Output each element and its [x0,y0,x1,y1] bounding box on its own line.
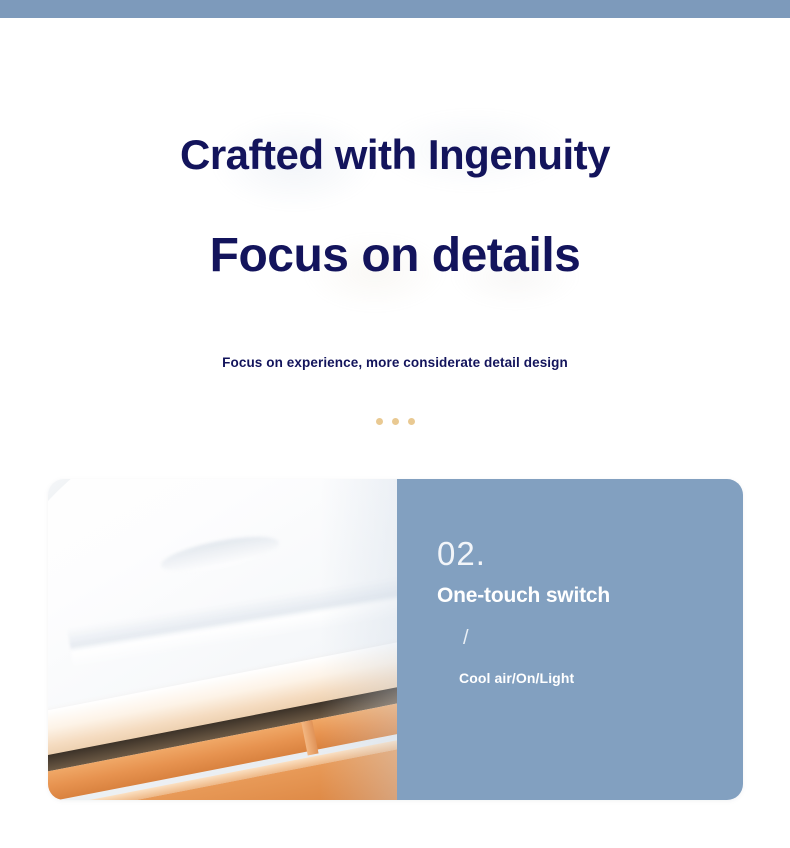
feature-card: 02. One-touch switch / Cool air/On/Light [48,479,743,800]
hero-watermark-image [195,93,595,323]
page-title: Crafted with Ingenuity [0,131,790,179]
dot-icon [392,418,399,425]
product-photo [48,479,397,800]
page-subtitle-heading: Focus on details [0,228,790,283]
dot-icon [376,418,383,425]
dot-icon [408,418,415,425]
hero-section: Crafted with Ingenuity Focus on details … [0,18,790,461]
feature-separator: / [463,628,743,648]
hero-tagline: Focus on experience, more considerate de… [0,355,790,370]
top-accent-bar [0,0,790,18]
feature-description: Cool air/On/Light [459,670,743,686]
feature-number: 02. [437,537,743,570]
feature-title: One-touch switch [437,584,743,608]
decorative-dots [0,418,790,425]
feature-info-panel: 02. One-touch switch / Cool air/On/Light [397,479,743,800]
